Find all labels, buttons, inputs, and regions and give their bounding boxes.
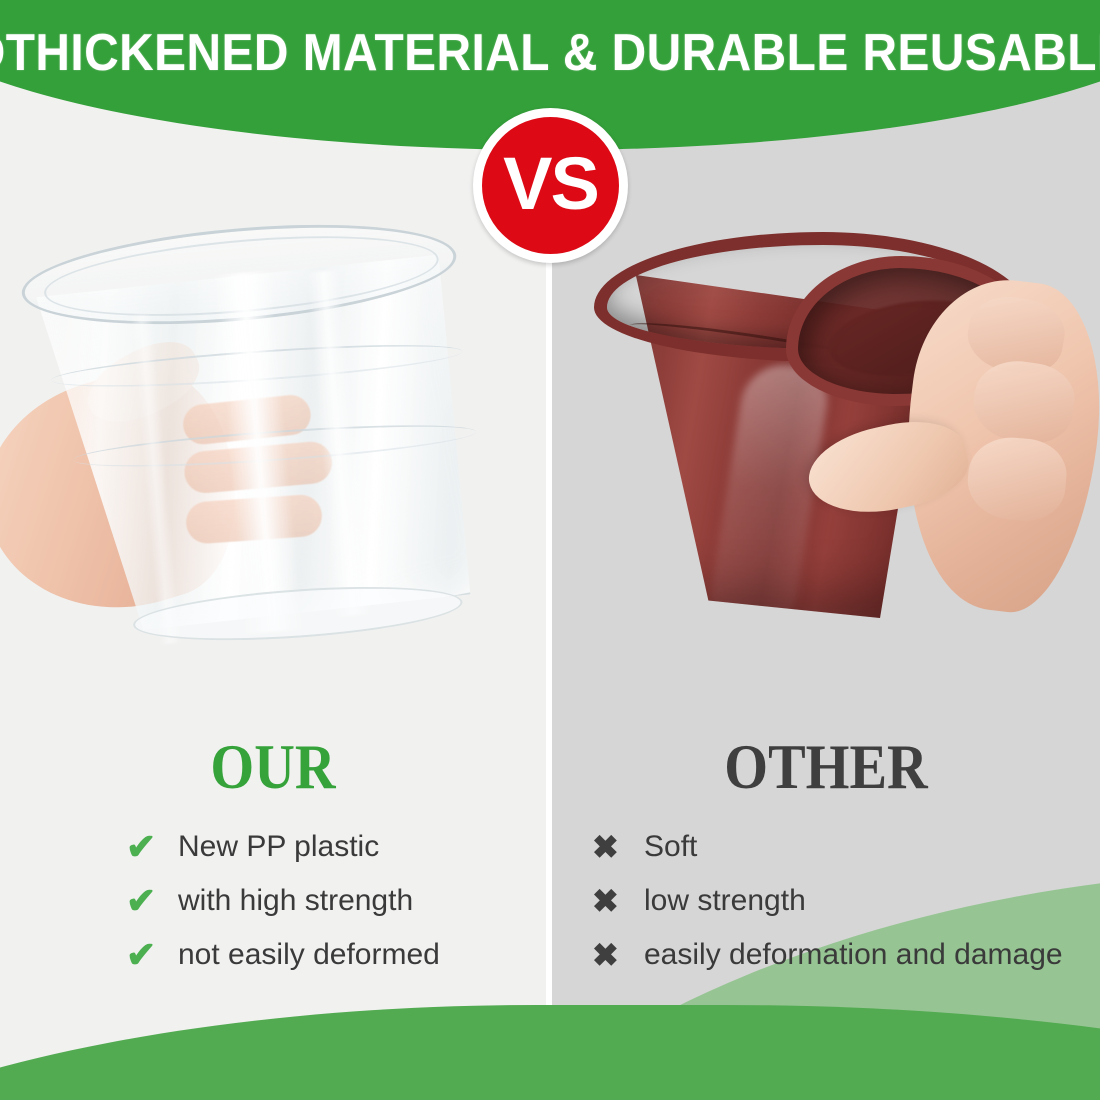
list-item-label: easily deformation and damage (644, 938, 1063, 972)
cross-icon: ✖ (592, 939, 644, 971)
list-item: ✔ not easily deformed (126, 930, 546, 980)
vs-label: VS (503, 147, 598, 221)
pot-highlight (705, 362, 833, 634)
product-photo-our (0, 150, 546, 710)
list-item: ✔ with high strength (126, 876, 546, 926)
deformed-plastic-pot-illustration (576, 210, 1076, 660)
list-item: ✖ Soft (592, 822, 1092, 872)
clear-plastic-pot-illustration (0, 153, 546, 710)
feature-list-other: ✖ Soft ✖ low strength ✖ easily deformati… (592, 822, 1092, 984)
list-item: ✖ easily deformation and damage (592, 930, 1092, 980)
list-item-label: low strength (644, 884, 806, 918)
vs-badge: VS (473, 108, 628, 263)
list-item-label: with high strength (178, 884, 413, 918)
product-comparison-poster: DTHICKENED MATERIAL & DURABLE REUSABLE V… (0, 0, 1100, 1100)
list-item-label: not easily deformed (178, 938, 440, 972)
page-title: DTHICKENED MATERIAL & DURABLE REUSABLE (44, 0, 1056, 105)
list-item-label: New PP plastic (178, 830, 379, 864)
list-item: ✖ low strength (592, 876, 1092, 926)
cross-icon: ✖ (592, 885, 644, 917)
check-icon: ✔ (126, 829, 178, 865)
product-photo-other (552, 150, 1100, 710)
cross-icon: ✖ (592, 831, 644, 863)
heading-other: OTHER (585, 735, 1067, 799)
list-item: ✔ New PP plastic (126, 822, 546, 872)
feature-list-our: ✔ New PP plastic ✔ with high strength ✔ … (126, 822, 546, 984)
heading-our: OUR (33, 735, 513, 799)
check-icon: ✔ (126, 937, 178, 973)
check-icon: ✔ (126, 883, 178, 919)
list-item-label: Soft (644, 830, 697, 864)
